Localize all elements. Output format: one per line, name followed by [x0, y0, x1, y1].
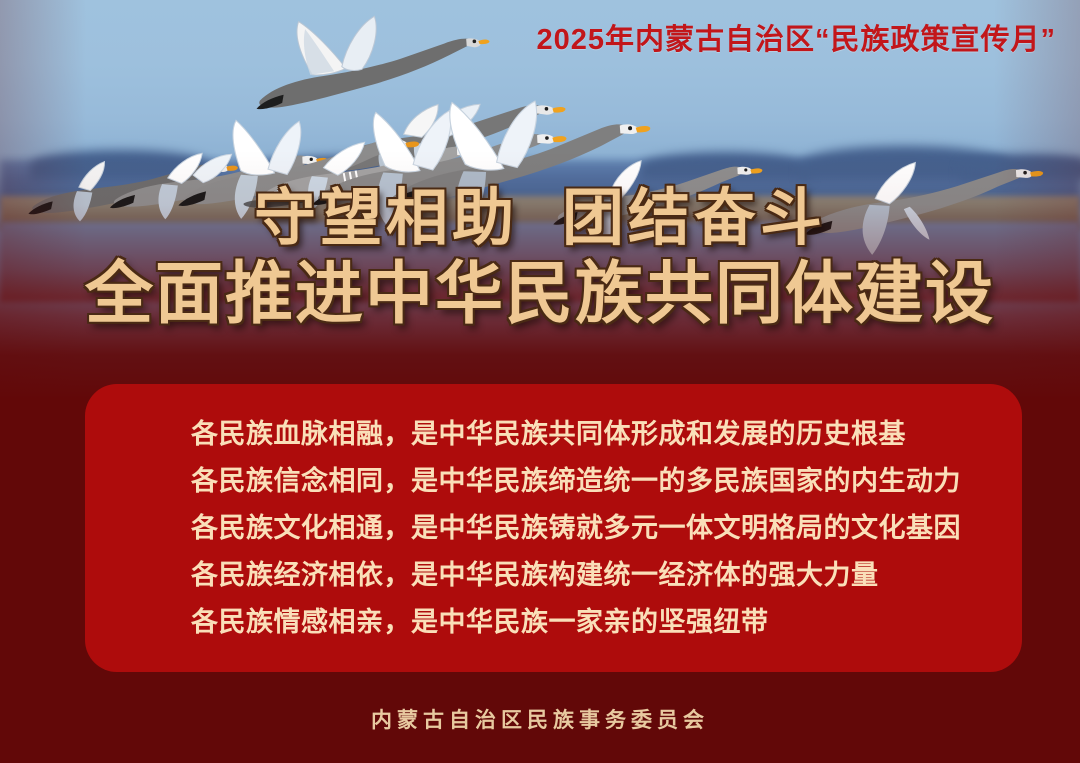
slogan-item: 各民族经济相依，是中华民族构建统一经济体的强大力量: [85, 552, 1022, 599]
slogan-item: 各民族血脉相融，是中华民族共同体形成和发展的历史根基: [85, 411, 1022, 458]
slogan-card: 各民族血脉相融，是中华民族共同体形成和发展的历史根基 各民族信念相同，是中华民族…: [85, 384, 1022, 672]
slogan-item: 各民族情感相亲，是中华民族一家亲的坚强纽带: [85, 599, 1022, 646]
slogan-item: 各民族文化相通，是中华民族铸就多元一体文明格局的文化基因: [85, 505, 1022, 552]
issuing-organization: 内蒙古自治区民族事务委员会: [371, 704, 709, 734]
poster-root: 2025年内蒙古自治区“民族政策宣传月” 守望相助团结奋斗 全面推进中华民族共同…: [0, 0, 1080, 763]
slogan-list: 各民族血脉相融，是中华民族共同体形成和发展的历史根基 各民族信念相同，是中华民族…: [85, 384, 1022, 672]
header-photo-swans: [0, 0, 1080, 400]
slogan-item: 各民族信念相同，是中华民族缔造统一的多民族国家的内生动力: [85, 458, 1022, 505]
campaign-banner-title: 2025年内蒙古自治区“民族政策宣传月”: [536, 16, 1056, 58]
photo-side-vignette: [0, 0, 1080, 400]
footer: 内蒙古自治区民族事务委员会: [0, 704, 1080, 734]
